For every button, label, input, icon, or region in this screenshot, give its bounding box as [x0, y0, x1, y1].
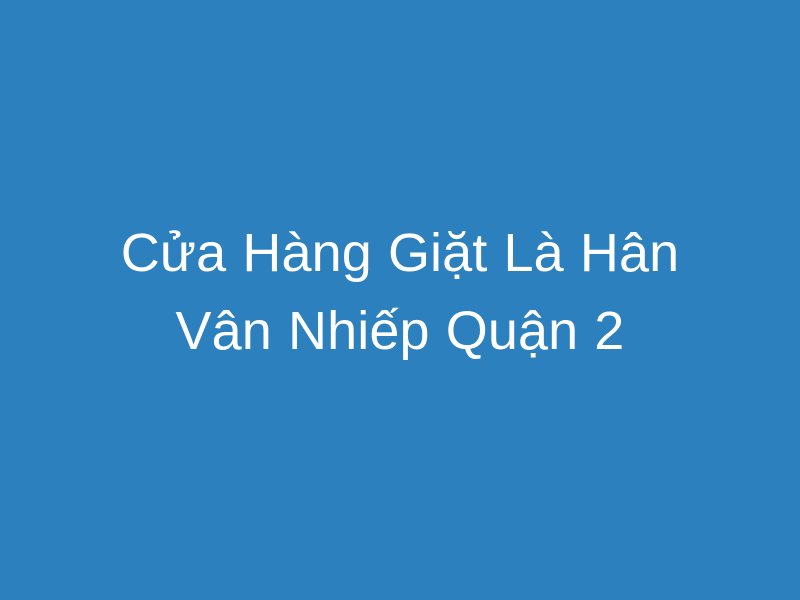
page-title: Cửa Hàng Giặt Là Hân Vân Nhiếp Quận 2 — [70, 214, 730, 370]
banner-background: Cửa Hàng Giặt Là Hân Vân Nhiếp Quận 2 — [0, 0, 800, 600]
title-block: Cửa Hàng Giặt Là Hân Vân Nhiếp Quận 2 — [70, 214, 730, 370]
